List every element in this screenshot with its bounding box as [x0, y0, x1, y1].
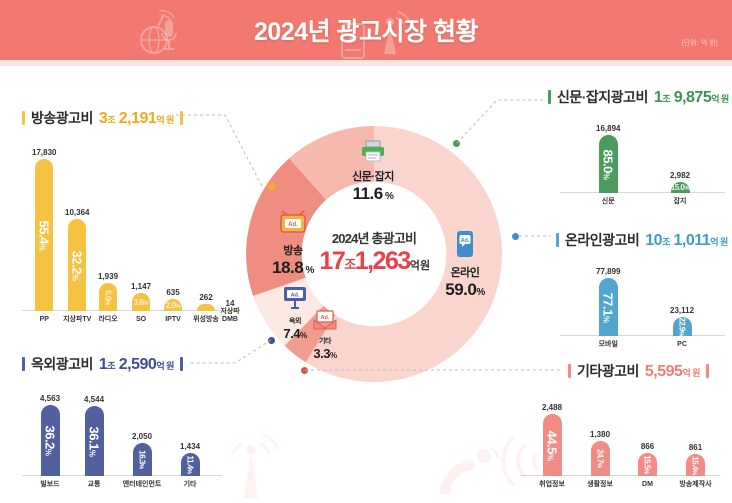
section-tick-end-icon [180, 357, 183, 371]
bar-col-radio[interactable]: 1,939 6.0% 라디오 [98, 272, 118, 311]
bar-percent: 32.2% [70, 250, 85, 280]
chart-broadcast: 17,830 55.4% PP 10,364 32.2% 지상파TV 1,939… [22, 135, 232, 325]
bar-value: 10,364 [65, 208, 89, 217]
section-tick-icon [556, 233, 559, 247]
bar-label: 방송제작사 [679, 481, 711, 489]
bar-label: 신문 [602, 198, 615, 206]
bar-col-magazine[interactable]: 2,982 15.0% 잡지 [670, 171, 690, 193]
svg-text:Ad.: Ad. [461, 238, 470, 244]
section-tick-icon [22, 111, 25, 125]
section-tick-icon [548, 90, 551, 104]
etc-eok-unit: 억 원 [682, 368, 700, 378]
bar-percent: 2.0% [166, 301, 180, 310]
section-tick-icon [568, 364, 571, 378]
bar-value: 77,899 [596, 267, 620, 276]
header-banner: 2024년 광고시장 현황 (단위: 억 원) [0, 0, 732, 60]
bar-value: 635 [166, 288, 179, 297]
bar-label: 라디오 [98, 316, 117, 324]
bar[interactable]: 15.4% [686, 454, 705, 476]
bar[interactable]: 6.0% [99, 283, 117, 311]
bar-percent: 36.2% [43, 426, 58, 456]
header-divider [0, 60, 732, 66]
bar-col-pp[interactable]: 17,830 55.4% PP [32, 148, 56, 311]
press-jo-unit: 조 [662, 94, 670, 104]
bar-label: IPTV [165, 316, 181, 324]
bar-col-terrestrial-tv[interactable]: 10,364 32.2% 지상파TV [65, 208, 89, 311]
bar-value: 1,380 [590, 430, 610, 439]
bar-label: 잡지 [674, 198, 687, 206]
bar-col-production[interactable]: 861 15.4% 방송제작사 [686, 443, 705, 476]
segment-name: 기타 [294, 336, 356, 346]
satellite-dish-watermark-icon [432, 440, 502, 502]
segment-percent: 59.0% [424, 280, 506, 300]
bar-col-transport[interactable]: 4,544 36.1% 교통 [84, 395, 104, 476]
bar[interactable]: 77.1% [599, 278, 618, 336]
bar-value: 2,982 [670, 171, 690, 180]
bar-percent: 11.4% [186, 456, 195, 474]
online-jo-unit: 조 [662, 237, 670, 247]
online-value-eok: 1,011 [674, 232, 711, 249]
section-header-outdoor: 옥외광고비 1조 2,590억 원 [22, 354, 183, 374]
bar[interactable]: 55.4% [35, 159, 53, 311]
bar-col-mobile[interactable]: 77,899 77.1% 모바일 [596, 267, 620, 336]
section-header-broadcast: 방송광고비 3조 2,191억 원 [22, 108, 183, 128]
online-value-jo: 10 [645, 232, 662, 249]
bar-col-billboard[interactable]: 4,563 36.2% 빌보드 [40, 394, 60, 476]
infographic-page: 2024년 광고시장 현황 (단위: 억 원) 방송광고비 3조 2,191억 … [0, 0, 732, 503]
outdoor-value-eok: 2,590 [119, 356, 157, 373]
bar[interactable]: 2.0% [164, 299, 182, 311]
bar-label: SO [136, 316, 146, 324]
connector-dot-online [512, 233, 519, 240]
svg-text:Ad.: Ad. [321, 315, 330, 321]
bar-label: PP [40, 316, 49, 324]
segment-name: 방송 [248, 242, 338, 258]
outdoor-eok-unit: 억 원 [156, 361, 174, 371]
section-header-etc: 기타광고비 5,595억 원 [568, 361, 709, 381]
connector-dot-broadcast [268, 183, 275, 190]
bar[interactable]: 24.7% [591, 441, 610, 476]
section-tick-end-icon [180, 111, 183, 125]
bar[interactable]: 16.3% [133, 443, 152, 476]
section-header-press: 신문·잡지광고비 1조 9,875억 원 [548, 87, 732, 107]
tv-ad-icon: Ad. [278, 210, 308, 241]
bar-label: 엔터테인먼트 [123, 481, 162, 489]
bar-value: 23,112 [670, 306, 694, 315]
section-title-online: 온라인광고비 [565, 230, 639, 250]
antenna-watermark-icon [216, 430, 286, 500]
bar-label: 모바일 [599, 341, 618, 349]
bar-percent: 3.6% [134, 298, 148, 307]
segment-percent: 11.6 % [318, 184, 428, 204]
bar-col-newspaper[interactable]: 16,894 85.0% 신문 [596, 124, 620, 193]
broadcast-jo-unit: 조 [107, 115, 115, 125]
bar-value: 4,563 [40, 394, 60, 403]
svg-text:Ad.: Ad. [288, 222, 298, 228]
bar[interactable]: 85.0% [599, 135, 618, 193]
bar[interactable]: 11.4% [181, 453, 200, 476]
bar-col-life-info[interactable]: 1,380 24.7% 생활정보 [590, 430, 610, 476]
section-tick-end-icon [706, 364, 709, 378]
section-title-outdoor: 옥외광고비 [31, 354, 93, 374]
svg-text:Ad.: Ad. [291, 293, 300, 299]
bar-value: 262 [199, 293, 212, 302]
bar-col-satellite[interactable]: 262 위성방송 [197, 293, 215, 311]
bar-label: DM [642, 481, 653, 489]
bar-percent: 6.0% [104, 290, 113, 304]
unit-note: (단위: 억 원) [681, 38, 718, 48]
broadcast-value-eok: 2,191 [119, 110, 157, 127]
broadcast-eok-unit: 억 원 [156, 115, 174, 125]
press-eok-unit: 억 원 [711, 94, 729, 104]
printer-ad-icon [361, 140, 385, 167]
bar-percent: 77.1% [601, 292, 616, 322]
bar-label: 지상파TV [63, 316, 91, 324]
page-title: 2024년 광고시장 현황 [0, 12, 732, 48]
chart-outdoor: 4,563 36.2% 빌보드 4,544 36.1% 교통 2,050 16.… [22, 375, 222, 490]
etc-value-eok: 5,595 [645, 363, 683, 380]
section-title-broadcast: 방송광고비 [31, 108, 93, 128]
bar-percent: 24.7% [596, 449, 605, 467]
chart-axis [560, 335, 725, 336]
bar-percent: 22.9% [678, 317, 687, 335]
bar[interactable]: 32.2% [68, 219, 86, 311]
signal-watermark-icon [500, 425, 560, 495]
bar-value: 4,544 [84, 395, 104, 404]
bar-value: 2,488 [542, 403, 562, 412]
connector-dot-etc [301, 367, 308, 374]
chart-press: 16,894 85.0% 신문 2,982 15.0% 잡지 [560, 112, 725, 207]
donut-label-online: Ad. 온라인 59.0% [424, 230, 506, 300]
bar-percent: 16.3% [138, 450, 147, 468]
segment-name: 온라인 [424, 264, 506, 280]
bar-label: 교통 [88, 481, 101, 489]
bar[interactable]: 36.2% [41, 405, 60, 476]
bar-value: 2,050 [132, 432, 152, 441]
section-header-online: 온라인광고비 10조 1,011억 원 [556, 230, 732, 250]
section-title-etc: 기타광고비 [577, 361, 639, 381]
bar-value: 1,434 [180, 442, 200, 451]
bar-label: 위성방송 [193, 316, 219, 324]
bar-value: 1,147 [131, 282, 151, 291]
bar-col-etc[interactable]: 1,434 11.4% 기타 [180, 442, 200, 476]
chart-axis [560, 192, 725, 193]
bar-value: 861 [689, 443, 702, 452]
bar-percent: 85.0% [601, 149, 616, 179]
bar[interactable]: 15.0% [671, 182, 690, 193]
outdoor-jo-unit: 조 [107, 361, 115, 371]
donut-label-broadcast: Ad. 방송 18.8 % [248, 210, 338, 278]
press-value-eok: 9,875 [674, 89, 712, 106]
chart-online: 77,899 77.1% 모바일 23,112 22.9% PC [560, 252, 725, 350]
segment-percent: 18.8 % [248, 258, 338, 278]
connector-dot-outdoor [268, 337, 275, 344]
bar-col-dm[interactable]: 866 15.5% DM [638, 442, 657, 476]
bar-value: 16,894 [596, 124, 620, 133]
donut-chart: 2024년 총광고비 17조1,263억 원 신문·잡지 11.6 % [228, 118, 520, 390]
section-tick-icon [22, 357, 25, 371]
bar[interactable]: 15.5% [638, 453, 657, 476]
bar-value: 17,830 [32, 148, 56, 157]
bar-col-entertainment[interactable]: 2,050 16.3% 엔터테인먼트 [132, 432, 152, 476]
bar-percent: 15.4% [691, 456, 700, 474]
online-eok-unit: 억 원 [710, 237, 728, 247]
bar-percent: 15.0% [671, 183, 689, 192]
donut-label-press: 신문·잡지 11.6 % [318, 140, 428, 204]
bar[interactable]: 22.9% [673, 317, 692, 336]
bar-percent: 55.4% [37, 220, 52, 250]
bar-value: 1,939 [98, 272, 118, 281]
bar-col-iptv[interactable]: 635 2.0% IPTV [164, 288, 182, 311]
envelope-ad-icon: Ad. [313, 310, 337, 335]
bar[interactable] [197, 304, 215, 311]
bar-label: 빌보드 [40, 481, 59, 489]
donut-label-etc: Ad. 기타 3.3% [294, 310, 356, 361]
bar[interactable]: 3.6% [132, 293, 150, 311]
bar-label: PC [677, 341, 687, 349]
bar-col-so[interactable]: 1,147 3.6% SO [131, 282, 151, 311]
bar-percent: 15.5% [643, 455, 652, 473]
segment-name: 신문·잡지 [318, 168, 428, 184]
bar-col-pc[interactable]: 23,112 22.9% PC [670, 306, 694, 336]
bar[interactable]: 36.1% [85, 406, 104, 476]
mobile-ad-icon: Ad. [454, 230, 476, 263]
connector-dot-press [453, 140, 460, 147]
press-value-jo: 1 [654, 89, 662, 106]
bar-percent: 36.1% [87, 426, 102, 456]
section-title-press: 신문·잡지광고비 [557, 87, 648, 107]
bar-label: 생활정보 [587, 481, 613, 489]
bar-label: 기타 [184, 481, 197, 489]
bar-value: 866 [641, 442, 654, 451]
segment-percent: 3.3% [294, 346, 356, 361]
